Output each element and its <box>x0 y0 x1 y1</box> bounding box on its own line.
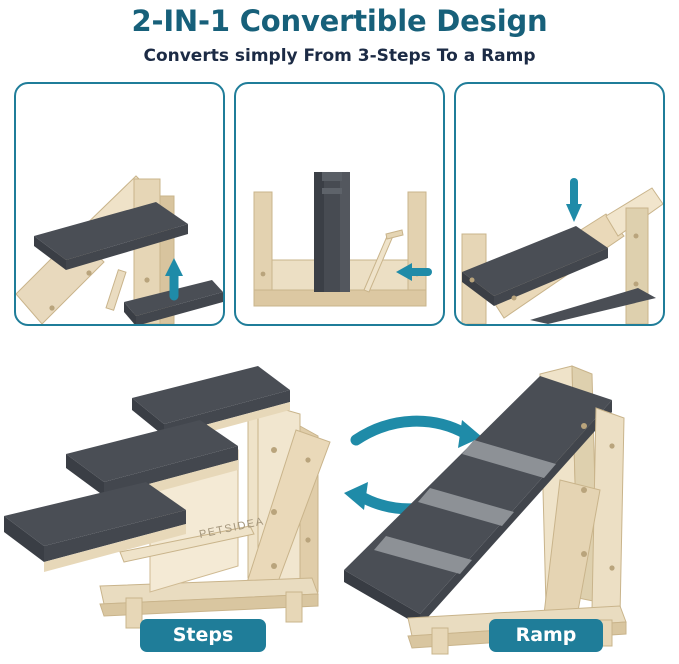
steps-product: PETSIDEA <box>4 366 330 628</box>
panel-row <box>14 82 665 322</box>
arrow-down-icon <box>566 182 582 222</box>
page-subtitle: Converts simply From 3-Steps To a Ramp <box>0 46 679 66</box>
scene-illustration: PETSIDEA <box>0 330 679 659</box>
panel-2-illustration <box>236 84 443 324</box>
panel-lift-step <box>14 82 225 326</box>
panel-1-illustration <box>16 84 223 324</box>
product-scene: PETSIDEA <box>0 330 679 659</box>
panel-3-illustration <box>456 84 663 324</box>
panel-fold-flat <box>234 82 445 326</box>
page-title: 2-IN-1 Convertible Design <box>0 4 679 38</box>
label-ramp: Ramp <box>489 619 603 652</box>
label-steps: Steps <box>140 619 266 652</box>
panel-lower-ramp <box>454 82 665 326</box>
